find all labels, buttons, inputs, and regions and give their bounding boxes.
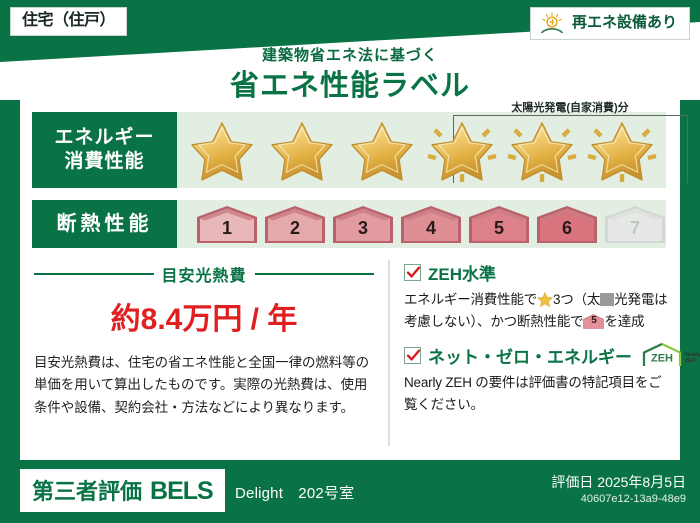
label-title: 省エネ性能ラベル bbox=[0, 62, 700, 104]
zeh-body-text-2: 3つ（太 bbox=[553, 292, 600, 307]
bels-en-label: BELS bbox=[150, 477, 213, 506]
energy-performance-row: エネルギー 消費性能 太陽光発電(自家消費)分 bbox=[32, 112, 666, 188]
star-1 bbox=[183, 116, 261, 184]
zeh-house-logo-icon: ZEH Nearly ZEH bbox=[641, 342, 700, 368]
evaluation-id: 40607e12-13a9-48e9 bbox=[581, 493, 686, 505]
inline-star-icon bbox=[537, 292, 553, 307]
zeh-netzero-block: ネット・ゼロ・エネルギー ZEH Nearly ZEH Nearly ZE bbox=[404, 342, 672, 415]
insulation-house-1: 1 bbox=[195, 204, 259, 244]
renewable-badge-label: 再エネ設備あり bbox=[572, 15, 677, 32]
energy-stars-area: 太陽光発電(自家消費)分 bbox=[177, 112, 666, 188]
renewable-equipment-badge: 再エネ設備あり bbox=[530, 7, 690, 40]
bels-certification-box: 第三者評価 BELS bbox=[20, 469, 225, 512]
insulation-performance-row: 断熱性能 1 2 3 4 bbox=[32, 200, 666, 248]
zeh-netzero-body: Nearly ZEH の要件は評価書の特記項目をご覧ください。 bbox=[404, 372, 672, 415]
energy-star-rating bbox=[183, 116, 661, 184]
zeh-netzero-title-row: ネット・ゼロ・エネルギー ZEH Nearly ZEH bbox=[404, 342, 672, 368]
checkmark-icon-zeh-netzero bbox=[404, 347, 421, 364]
housing-type-tag: 住宅（住戸） bbox=[10, 7, 127, 36]
bels-jp-label: 第三者評価 bbox=[32, 474, 142, 506]
star-2 bbox=[263, 116, 341, 184]
zeh-standard-block: ZEH水準 エネルギー消費性能で3つ（太光発電は考慮しない）、かつ断熱性能で5を… bbox=[404, 260, 672, 332]
insulation-level-scale: 1 2 3 4 5 bbox=[195, 204, 667, 244]
zeh-body-text-4: を達成 bbox=[604, 314, 644, 329]
insulation-house-6: 6 bbox=[535, 204, 599, 244]
insulation-performance-header: 断熱性能 bbox=[32, 200, 177, 248]
zeh-netzero-title: ネット・ゼロ・エネルギー bbox=[428, 343, 632, 368]
label-card: エネルギー 消費性能 太陽光発電(自家消費)分 bbox=[20, 100, 680, 460]
insulation-house-label-6: 6 bbox=[535, 218, 599, 239]
redacted-character-block bbox=[600, 293, 614, 306]
zeh-logo-sub1: Nearly bbox=[685, 352, 700, 358]
star-4 bbox=[423, 116, 501, 184]
utility-cost-heading-text: 目安光熱費 bbox=[162, 262, 247, 286]
heading-rule-left bbox=[34, 273, 154, 275]
insulation-levels-area: 1 2 3 4 5 bbox=[177, 200, 666, 248]
zeh-standard-title: ZEH水準 bbox=[428, 260, 496, 285]
footer-bar: 第三者評価 BELS Delight 202号室 評価日 2025年8月5日 4… bbox=[0, 460, 700, 523]
bels-energy-label: 住宅（住戸） 再エネ設備あり 建築物省エネ法に基づく 省エネ性能ラベル bbox=[0, 0, 700, 523]
evaluation-date: 評価日 2025年8月5日 bbox=[551, 472, 686, 492]
insulation-house-5: 5 bbox=[467, 204, 531, 244]
star-3 bbox=[343, 116, 421, 184]
inline-house-level-value: 5 bbox=[583, 313, 604, 329]
utility-cost-value: 約8.4万円 / 年 bbox=[34, 294, 374, 338]
insulation-house-label-4: 4 bbox=[399, 218, 463, 239]
zeh-logo-sublabel: Nearly ZEH bbox=[685, 352, 700, 369]
zeh-standard-title-row: ZEH水準 bbox=[404, 260, 672, 285]
heading-rule-right bbox=[255, 273, 375, 275]
building-name: Delight 202号室 bbox=[235, 482, 354, 503]
insulation-house-label-1: 1 bbox=[195, 218, 259, 239]
checkmark-icon-zeh-standard bbox=[404, 264, 421, 281]
star-6 bbox=[583, 116, 661, 184]
inline-house-level-icon: 5 bbox=[583, 314, 604, 329]
energy-label-line2: 消費性能 bbox=[64, 150, 144, 174]
energy-performance-header: エネルギー 消費性能 bbox=[32, 112, 177, 188]
utility-cost-section: 目安光熱費 約8.4万円 / 年 目安光熱費は、住宅の省エネ性能と全国一律の燃料… bbox=[34, 262, 374, 419]
zeh-section: ZEH水準 エネルギー消費性能で3つ（太光発電は考慮しない）、かつ断熱性能で5を… bbox=[404, 260, 672, 425]
utility-cost-heading: 目安光熱費 bbox=[34, 262, 374, 286]
energy-label-line1: エネルギー bbox=[54, 126, 154, 150]
utility-cost-note: 目安光熱費は、住宅の省エネ性能と全国一律の燃料等の単価を用いて算出したものです。… bbox=[34, 352, 374, 419]
insulation-house-label-2: 2 bbox=[263, 218, 327, 239]
star-5 bbox=[503, 116, 581, 184]
sun-solar-icon bbox=[539, 12, 565, 34]
column-divider bbox=[388, 260, 390, 446]
insulation-house-4: 4 bbox=[399, 204, 463, 244]
insulation-house-3: 3 bbox=[331, 204, 395, 244]
zeh-logo-text: ZEH bbox=[651, 353, 673, 365]
zeh-body-text-1: エネルギー消費性能で bbox=[404, 292, 537, 307]
insulation-house-7: 7 bbox=[603, 204, 667, 244]
zeh-standard-body: エネルギー消費性能で3つ（太光発電は考慮しない）、かつ断熱性能で5を達成 bbox=[404, 289, 672, 332]
zeh-logo-sub2: ZEH bbox=[685, 358, 695, 364]
insulation-house-label-5: 5 bbox=[467, 218, 531, 239]
insulation-house-label-3: 3 bbox=[331, 218, 395, 239]
insulation-house-2: 2 bbox=[263, 204, 327, 244]
insulation-house-label-7: 7 bbox=[603, 218, 667, 239]
